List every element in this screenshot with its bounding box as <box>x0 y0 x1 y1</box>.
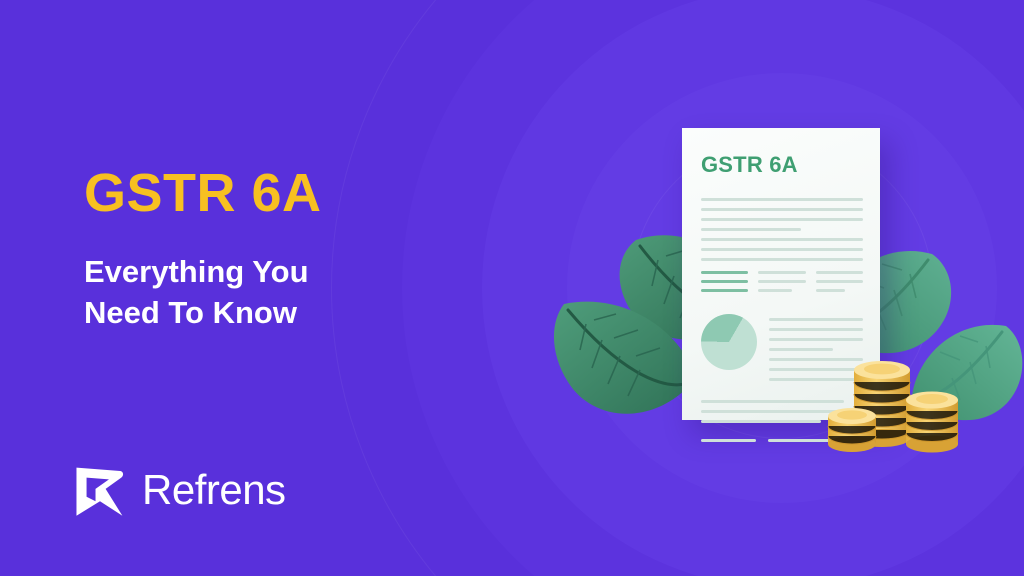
text-line <box>816 280 863 283</box>
text-line <box>701 271 748 274</box>
text-line <box>769 328 863 331</box>
coin-stack-left <box>828 408 876 452</box>
document-title: GSTR 6A <box>701 154 798 176</box>
text-line <box>701 238 863 241</box>
text-line <box>701 218 863 221</box>
text-line <box>816 271 863 274</box>
document-column <box>701 271 748 298</box>
coin-stack-right <box>906 392 958 453</box>
brand-logo[interactable]: Refrens <box>72 462 286 518</box>
text-line <box>769 348 833 351</box>
text-line <box>701 280 748 283</box>
document-column-block <box>701 271 863 298</box>
pie-chart <box>701 314 757 370</box>
brand-name: Refrens <box>142 469 286 511</box>
text-line <box>701 439 756 442</box>
document-paragraph-lines <box>701 198 863 261</box>
text-line <box>758 280 805 283</box>
text-line <box>769 318 863 321</box>
text-line <box>701 208 863 211</box>
text-line <box>758 289 792 292</box>
text-line <box>701 289 748 292</box>
document-column <box>758 271 805 298</box>
footer-line-wrap <box>701 439 756 442</box>
text-line <box>701 248 863 251</box>
banner-canvas: GSTR 6A Everything You Need To Know Refr… <box>0 0 1024 576</box>
text-line <box>701 198 863 201</box>
text-line <box>701 228 801 231</box>
page-title: GSTR 6A <box>84 166 322 220</box>
text-line <box>816 289 845 292</box>
text-line <box>769 338 863 341</box>
coin-stacks-icon <box>826 348 966 460</box>
text-line <box>758 271 805 274</box>
text-line <box>701 400 844 403</box>
text-line <box>701 410 844 413</box>
document-column <box>816 271 863 298</box>
page-subtitle: Everything You Need To Know <box>84 252 374 334</box>
text-line <box>701 258 863 261</box>
text-line <box>701 420 821 423</box>
refrens-arrow-mark-icon <box>72 462 128 518</box>
